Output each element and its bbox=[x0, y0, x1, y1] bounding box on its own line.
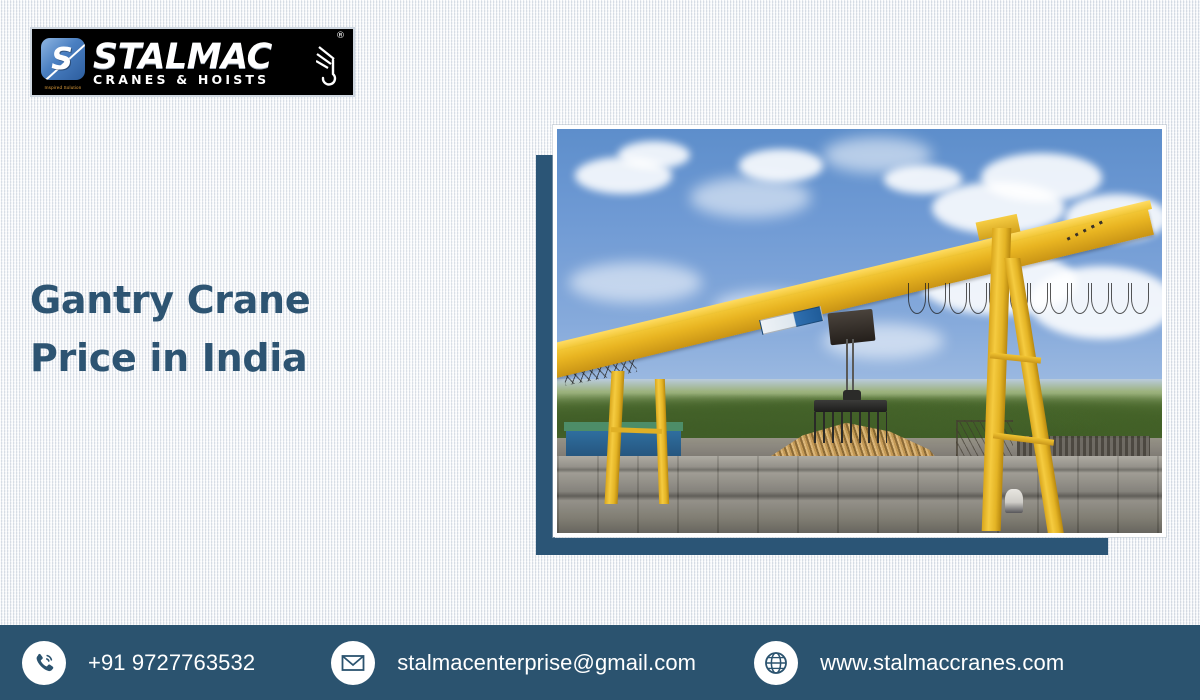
website-url-label: www.stalmaccranes.com bbox=[820, 650, 1064, 676]
phone-icon bbox=[22, 641, 66, 685]
globe-icon bbox=[754, 641, 798, 685]
contact-website[interactable]: www.stalmaccranes.com bbox=[754, 625, 1064, 700]
page-title-line-2: Price in India bbox=[30, 329, 360, 387]
logo-mark-icon: S Inspired Solution bbox=[39, 38, 87, 86]
photo-concrete-tanks bbox=[557, 456, 1162, 533]
page-background: S Inspired Solution STALMAC CRANES & HOI… bbox=[0, 0, 1200, 700]
email-address-label: stalmacenterprise@gmail.com bbox=[397, 650, 696, 676]
page-title-line-1: Gantry Crane bbox=[30, 271, 360, 329]
contact-phone[interactable]: +91 9727763532 bbox=[22, 625, 255, 700]
crane-lifting-grab bbox=[814, 400, 887, 412]
page-title: Gantry Crane Price in India bbox=[30, 271, 360, 387]
logo-brand-name: STALMAC bbox=[93, 41, 347, 74]
logo-tagline: Inspired Solution bbox=[39, 85, 87, 90]
logo-brand-subtitle: CRANES & HOISTS bbox=[93, 73, 347, 87]
crane-festoon-cables bbox=[908, 283, 1162, 323]
email-icon bbox=[331, 641, 375, 685]
phone-number-label: +91 9727763532 bbox=[88, 650, 255, 676]
hero-photo bbox=[557, 129, 1162, 533]
photo-worker bbox=[1005, 489, 1023, 513]
contact-email[interactable]: stalmacenterprise@gmail.com bbox=[331, 625, 696, 700]
contact-footer-bar: +91 9727763532 stalmacenterprise@gmail.c… bbox=[0, 625, 1200, 700]
registered-trademark-icon: ® bbox=[336, 31, 345, 41]
crane-hook-icon bbox=[316, 43, 342, 89]
logo-wordmark: STALMAC CRANES & HOISTS ® bbox=[93, 29, 347, 95]
hero-photo-frame bbox=[553, 125, 1166, 537]
company-logo[interactable]: S Inspired Solution STALMAC CRANES & HOI… bbox=[30, 27, 355, 97]
logo-mark-letter: S bbox=[39, 38, 83, 80]
